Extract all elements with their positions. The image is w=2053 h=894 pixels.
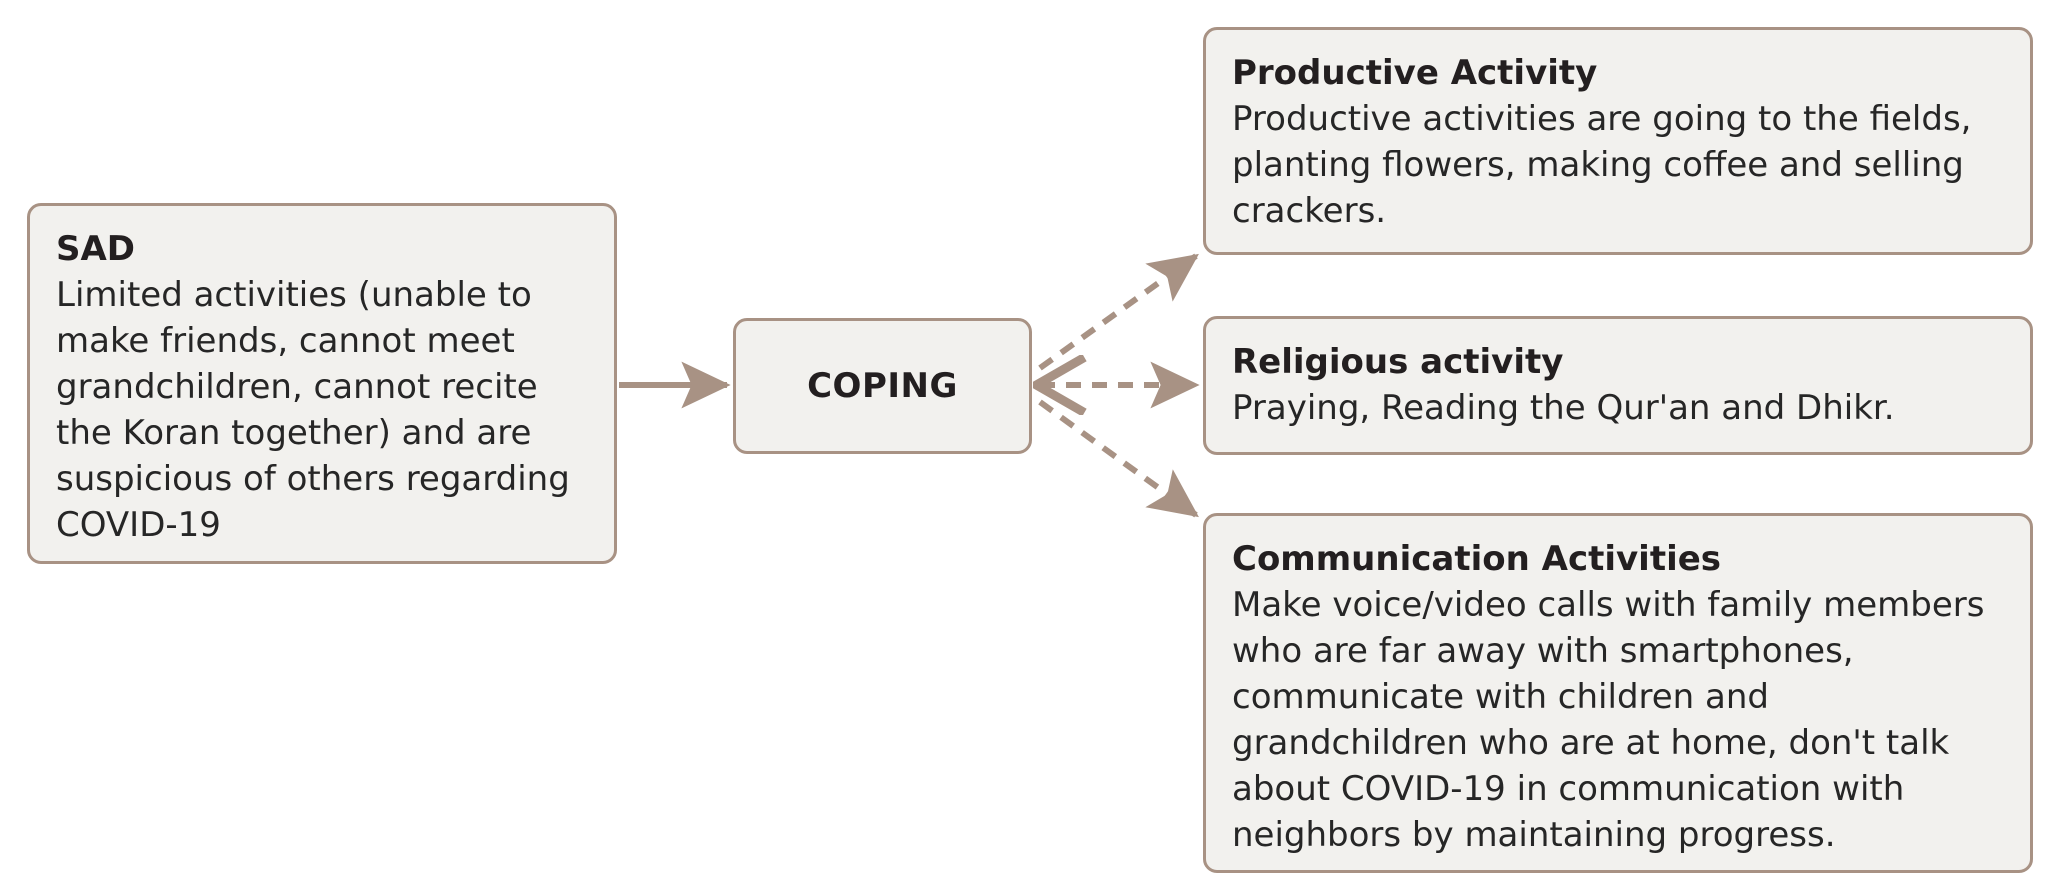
node-communication-activities-title: Communication Activities xyxy=(1232,536,2006,582)
diagram-canvas: SAD Limited activities (unable to make f… xyxy=(0,0,2053,894)
node-productive-activity-content: Productive Activity Productive activitie… xyxy=(1206,30,2030,250)
node-sad-content: SAD Limited activities (unable to make f… xyxy=(30,206,614,564)
node-religious-activity-body: Praying, Reading the Qur'an and Dhikr. xyxy=(1232,385,2006,431)
node-communication-activities-body: Make voice/video calls with family membe… xyxy=(1232,582,2006,858)
node-coping[interactable]: COPING xyxy=(733,318,1032,454)
node-sad-body: Limited activities (unable to make frien… xyxy=(56,272,590,548)
connector-coping-to-productive xyxy=(1040,256,1196,368)
node-religious-activity-content: Religious activity Praying, Reading the … xyxy=(1206,319,2030,447)
node-religious-activity-title: Religious activity xyxy=(1232,339,2006,385)
node-sad[interactable]: SAD Limited activities (unable to make f… xyxy=(27,203,617,564)
node-productive-activity-title: Productive Activity xyxy=(1232,50,2006,96)
node-productive-activity[interactable]: Productive Activity Productive activitie… xyxy=(1203,27,2033,255)
node-communication-activities-content: Communication Activities Make voice/vide… xyxy=(1206,516,2030,874)
node-sad-title: SAD xyxy=(56,226,590,272)
node-productive-activity-body: Productive activities are going to the f… xyxy=(1232,96,2006,234)
node-communication-activities[interactable]: Communication Activities Make voice/vide… xyxy=(1203,513,2033,873)
node-coping-label: COPING xyxy=(807,366,958,406)
connector-coping-to-communication xyxy=(1040,402,1196,515)
node-religious-activity[interactable]: Religious activity Praying, Reading the … xyxy=(1203,316,2033,455)
